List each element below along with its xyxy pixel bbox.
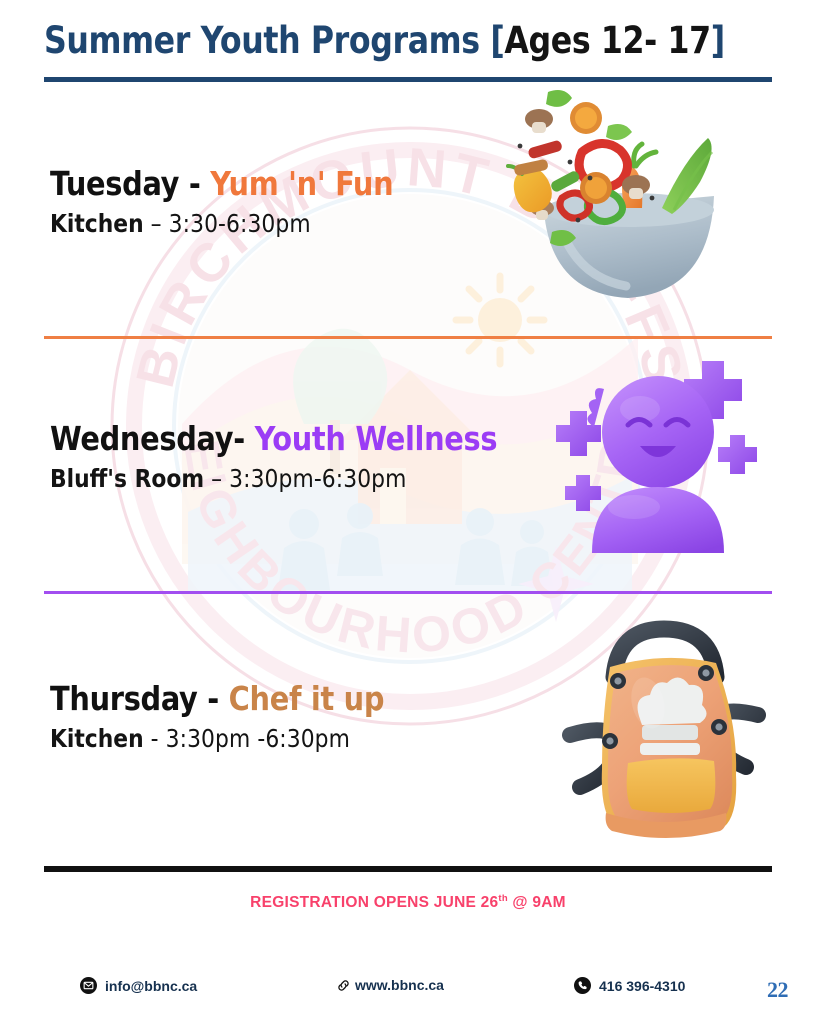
program-location-wednesday: Bluff's Room <box>50 464 204 493</box>
envelope-icon <box>80 977 97 994</box>
registration-ordinal: th <box>498 893 507 904</box>
poster-page: BIRCHMOUNT BLUFFS NEIGHBOURHOOD CENTRE S… <box>0 0 816 1020</box>
title-ages-text: Ages 12- 17 <box>504 19 710 62</box>
contact-website[interactable]: www.bbnc.ca <box>335 977 444 993</box>
program-name-wednesday: Youth Wellness <box>255 419 498 458</box>
divider-orange <box>44 336 772 339</box>
registration-text-after: @ 9AM <box>508 894 566 911</box>
contact-email[interactable]: info@bbnc.ca <box>80 977 197 994</box>
program-location-thursday: Kitchen <box>50 724 144 753</box>
page-number: 22 <box>767 977 788 1003</box>
link-icon <box>335 977 351 993</box>
title-underline <box>44 77 772 82</box>
registration-notice: REGISTRATION OPENS JUNE 26th @ 9AM <box>0 893 816 912</box>
title-bracket-close: ] <box>711 19 725 62</box>
registration-text-before: REGISTRATION OPENS JUNE 26 <box>250 894 498 911</box>
program-day-thursday: Thursday - <box>50 679 229 718</box>
program-name-tuesday: Yum 'n' Fun <box>210 164 393 203</box>
salad-bowl-icon <box>486 86 726 301</box>
phone-icon <box>574 977 591 994</box>
program-time-thursday: 3:30pm -6:30pm <box>166 724 350 753</box>
divider-black <box>44 866 772 872</box>
chef-apron-icon <box>552 611 778 856</box>
title-main-text: Summer Youth Programs <box>44 19 490 62</box>
program-time-tuesday: 3:30-6:30pm <box>169 209 311 238</box>
footer-contact-bar: info@bbnc.ca www.bbnc.ca 416 396-43 <box>0 974 816 1008</box>
title-bracket-open: [ <box>490 19 504 62</box>
program-name-thursday: Chef it up <box>229 679 385 718</box>
program-separator-thursday: - <box>144 724 166 753</box>
program-details-tuesday: Kitchen – 3:30-6:30pm <box>50 209 393 239</box>
program-heading-tuesday: Tuesday - Yum 'n' Fun <box>50 166 393 202</box>
program-details-thursday: Kitchen - 3:30pm -6:30pm <box>50 724 384 754</box>
program-heading-thursday: Thursday - Chef it up <box>50 681 384 717</box>
contact-email-text: info@bbnc.ca <box>105 978 197 994</box>
program-location-tuesday: Kitchen <box>50 209 144 238</box>
program-day-wednesday: Wednesday- <box>50 419 255 458</box>
program-time-wednesday: 3:30pm-6:30pm <box>229 464 406 493</box>
program-details-wednesday: Bluff's Room – 3:30pm-6:30pm <box>50 464 497 494</box>
page-title: Summer Youth Programs [Ages 12- 17] <box>44 22 772 61</box>
program-separator-tuesday: – <box>144 209 169 238</box>
contact-phone[interactable]: 416 396-4310 <box>574 977 685 994</box>
divider-purple <box>44 591 772 594</box>
program-separator-wednesday: – <box>204 464 229 493</box>
wellness-person-icon <box>552 353 772 568</box>
program-heading-wednesday: Wednesday- Youth Wellness <box>50 421 497 457</box>
contact-phone-text: 416 396-4310 <box>599 978 685 994</box>
contact-website-text: www.bbnc.ca <box>355 977 444 993</box>
program-day-tuesday: Tuesday - <box>50 164 210 203</box>
